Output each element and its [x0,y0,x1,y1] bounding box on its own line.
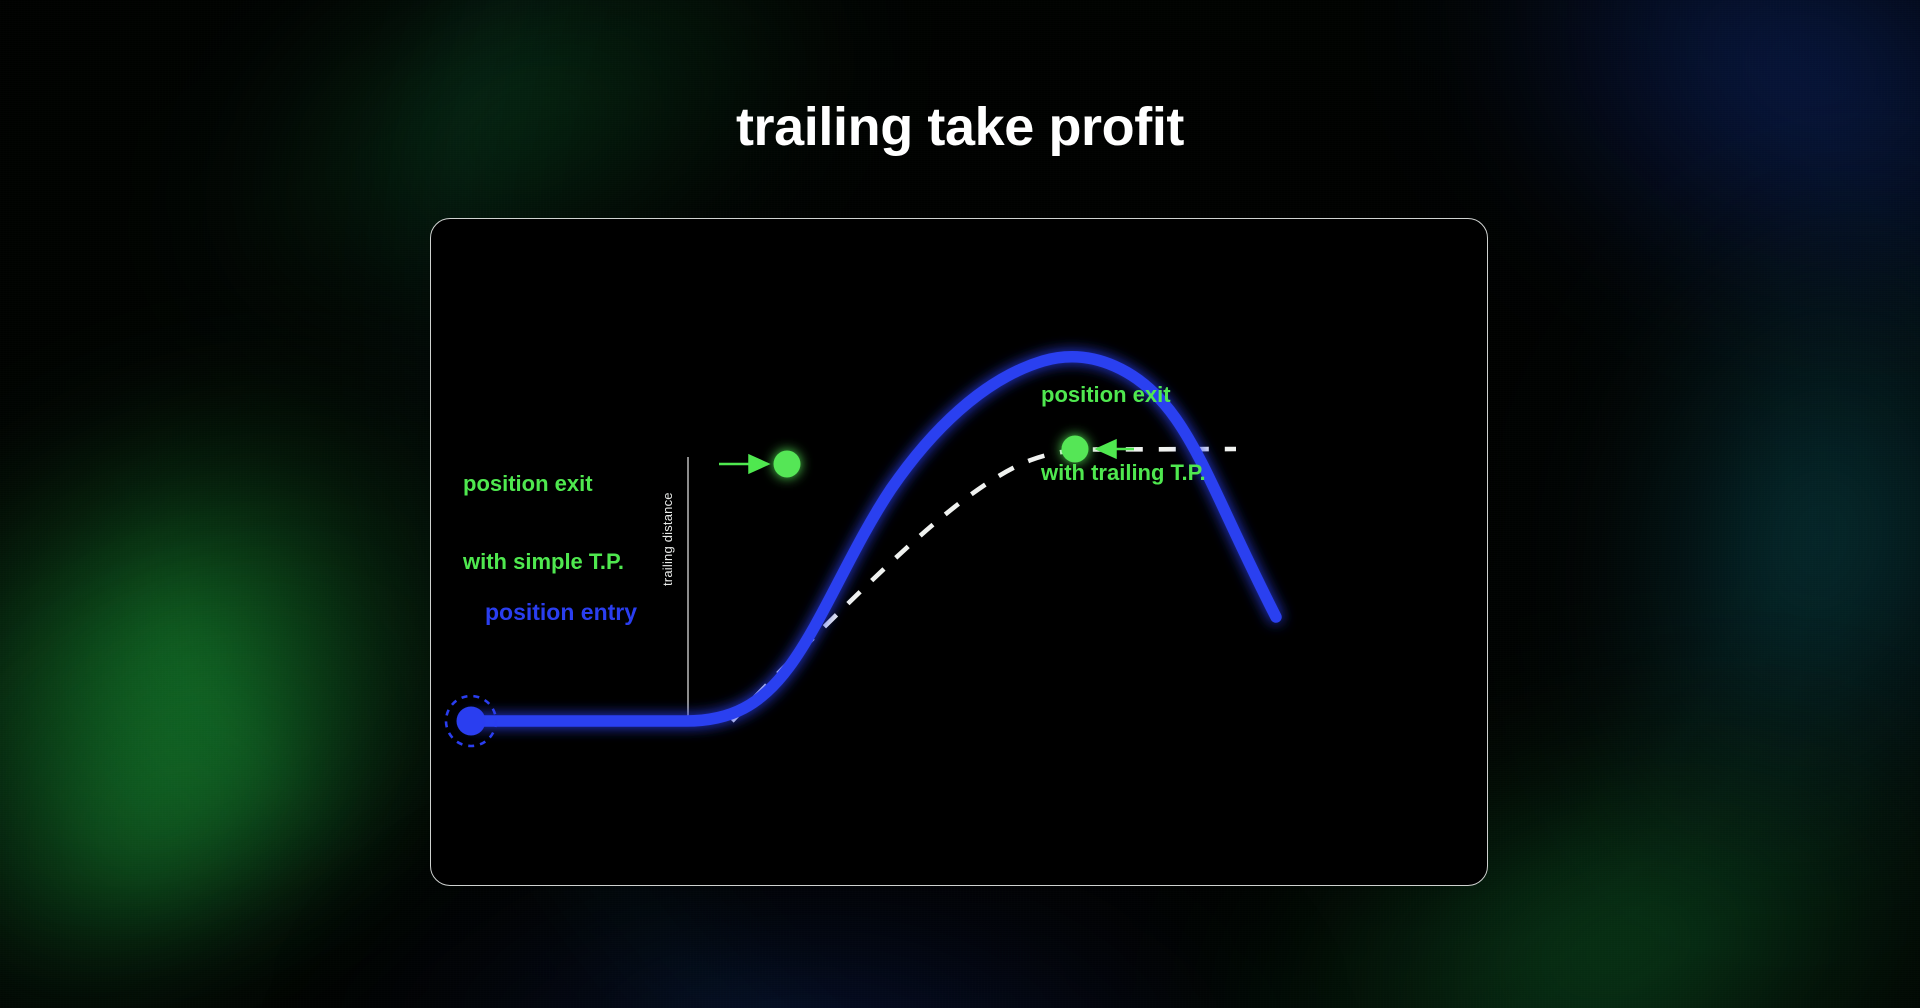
aurora-glow-right [1489,124,1920,956]
trailing-exit-line1: position exit [1041,382,1206,408]
simple-exit-line1: position exit [463,471,624,497]
simple-exit-annotation: position exit with simple T.P. [463,419,624,627]
page-title: trailing take profit [0,96,1920,158]
simple-take-profit-exit-marker[interactable] [774,451,801,478]
trailing-distance-label: trailing distance [660,492,675,586]
trailing-exit-line2: with trailing T.P. [1041,460,1206,486]
simple-exit-line2: with simple T.P. [463,549,624,575]
position-entry-label: position entry [431,599,691,626]
screenshot-root: trailing take profit [0,0,1920,1008]
trailing-exit-annotation: position exit with trailing T.P. [1041,330,1206,538]
position-entry-marker[interactable] [457,707,486,736]
chart-card: position exit with simple T.P. position … [430,218,1488,886]
